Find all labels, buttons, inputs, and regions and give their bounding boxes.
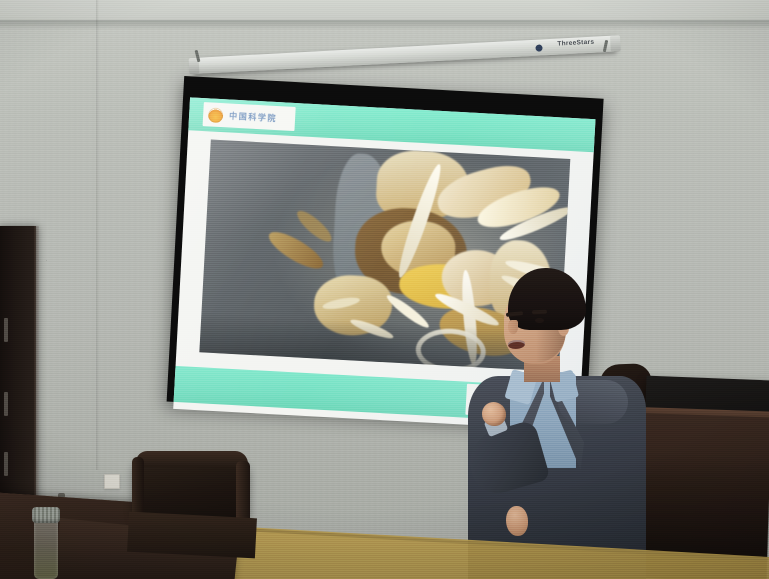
cabinet-handle bbox=[4, 392, 8, 416]
sun-emblem-logo-icon bbox=[208, 107, 224, 123]
glass-body bbox=[34, 519, 58, 579]
chair-crest-rail bbox=[136, 451, 248, 467]
ceiling-shadow bbox=[0, 20, 769, 30]
presenter-eyebrow bbox=[532, 310, 547, 315]
presenter-hair bbox=[508, 268, 586, 330]
roller-end-cap-right bbox=[610, 35, 621, 52]
slide-org-label: 中国科学院 bbox=[229, 110, 278, 124]
screenshot-scene: · · · ThreeStars 中国科学院 bbox=[0, 0, 769, 579]
presenter bbox=[462, 268, 652, 579]
wall-outlet bbox=[104, 474, 120, 489]
cabinet-edge bbox=[34, 226, 39, 526]
presenter-fist bbox=[482, 402, 506, 426]
wall-corner bbox=[96, 0, 99, 470]
roller-brand-label: ThreeStars bbox=[557, 39, 594, 48]
left-cabinet bbox=[0, 226, 36, 526]
threestars-logo-icon bbox=[535, 44, 542, 51]
chair bbox=[128, 455, 258, 579]
presenter-eye bbox=[535, 318, 544, 323]
slide-header-logo-box: 中国科学院 bbox=[203, 102, 296, 131]
glass-lid bbox=[32, 507, 60, 523]
presenter-nose bbox=[508, 320, 518, 334]
cabinet-handle bbox=[4, 318, 8, 342]
cabinet-handle bbox=[4, 452, 8, 476]
presenter-hand bbox=[506, 506, 528, 536]
chair-seat bbox=[127, 512, 257, 559]
glass-tumbler bbox=[32, 505, 60, 579]
